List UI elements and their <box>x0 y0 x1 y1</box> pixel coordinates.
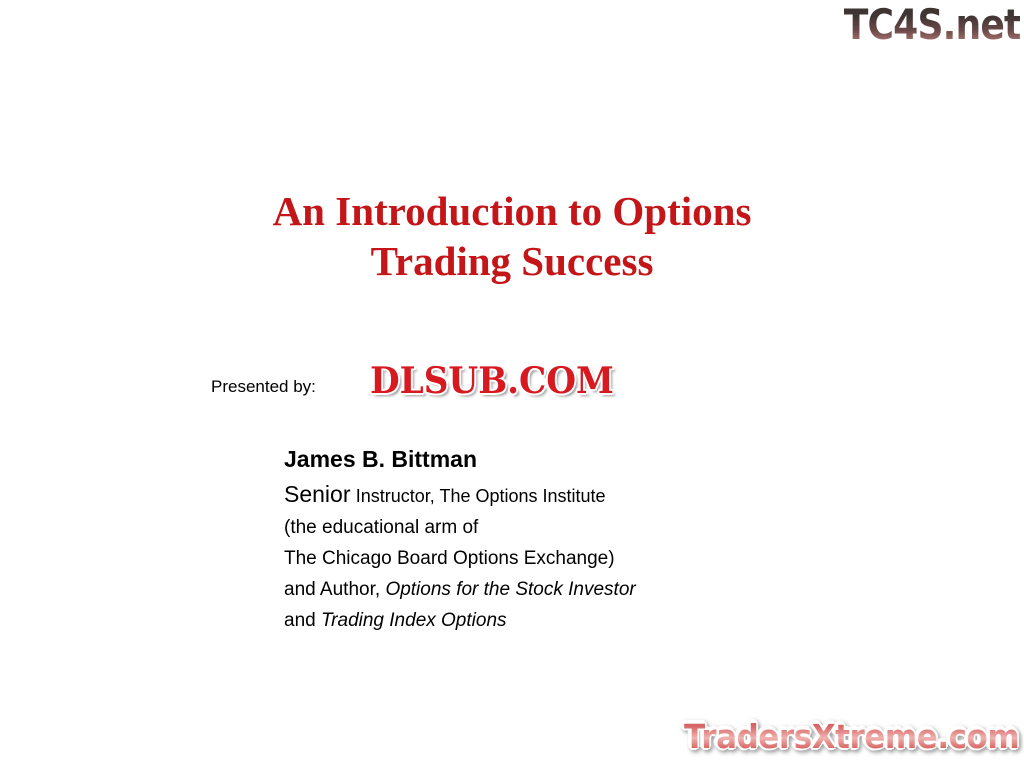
presenter-name: James B. Bittman <box>284 444 636 474</box>
tc4s-watermark: TC4S.net <box>843 2 1020 48</box>
affiliation-text-2: The Chicago Board Options Exchange) <box>284 548 615 569</box>
presenter-role-line: Senior Instructor, The Options Institute <box>284 474 636 512</box>
presenter-block: James B. Bittman Senior Instructor, The … <box>284 444 636 636</box>
tradersxtreme-watermark: TradersXtreme.com <box>684 716 1019 758</box>
presenter-role: Instructor, The Options Institute <box>356 486 606 506</box>
dlsub-watermark: DLSUB.COM <box>370 361 614 401</box>
presented-by-label: Presented by: <box>211 377 316 397</box>
presented-by-row: Presented by: <box>211 377 316 397</box>
presentation-slide: TC4S.net An Introduction to Options Trad… <box>0 0 1024 768</box>
presenter-rank: Senior <box>284 481 350 507</box>
affiliation-text-1: (the educational arm of <box>284 517 478 538</box>
title-line-1: An Introduction to Options <box>0 186 1024 236</box>
book-title-1: Options for the Stock Investor <box>385 579 635 600</box>
presenter-author-line-2: and Trading Index Options <box>284 605 636 636</box>
page-title: An Introduction to Options Trading Succe… <box>0 186 1024 286</box>
presenter-affiliation-line-1: (the educational arm of <box>284 512 636 543</box>
author-prefix: and Author, <box>284 579 380 600</box>
book-title-2: Trading Index Options <box>321 610 507 631</box>
title-line-2: Trading Success <box>0 236 1024 286</box>
presenter-author-line-1: and Author, Options for the Stock Invest… <box>284 574 636 605</box>
book-conjunction: and <box>284 610 316 631</box>
presenter-affiliation-line-2: The Chicago Board Options Exchange) <box>284 543 636 574</box>
